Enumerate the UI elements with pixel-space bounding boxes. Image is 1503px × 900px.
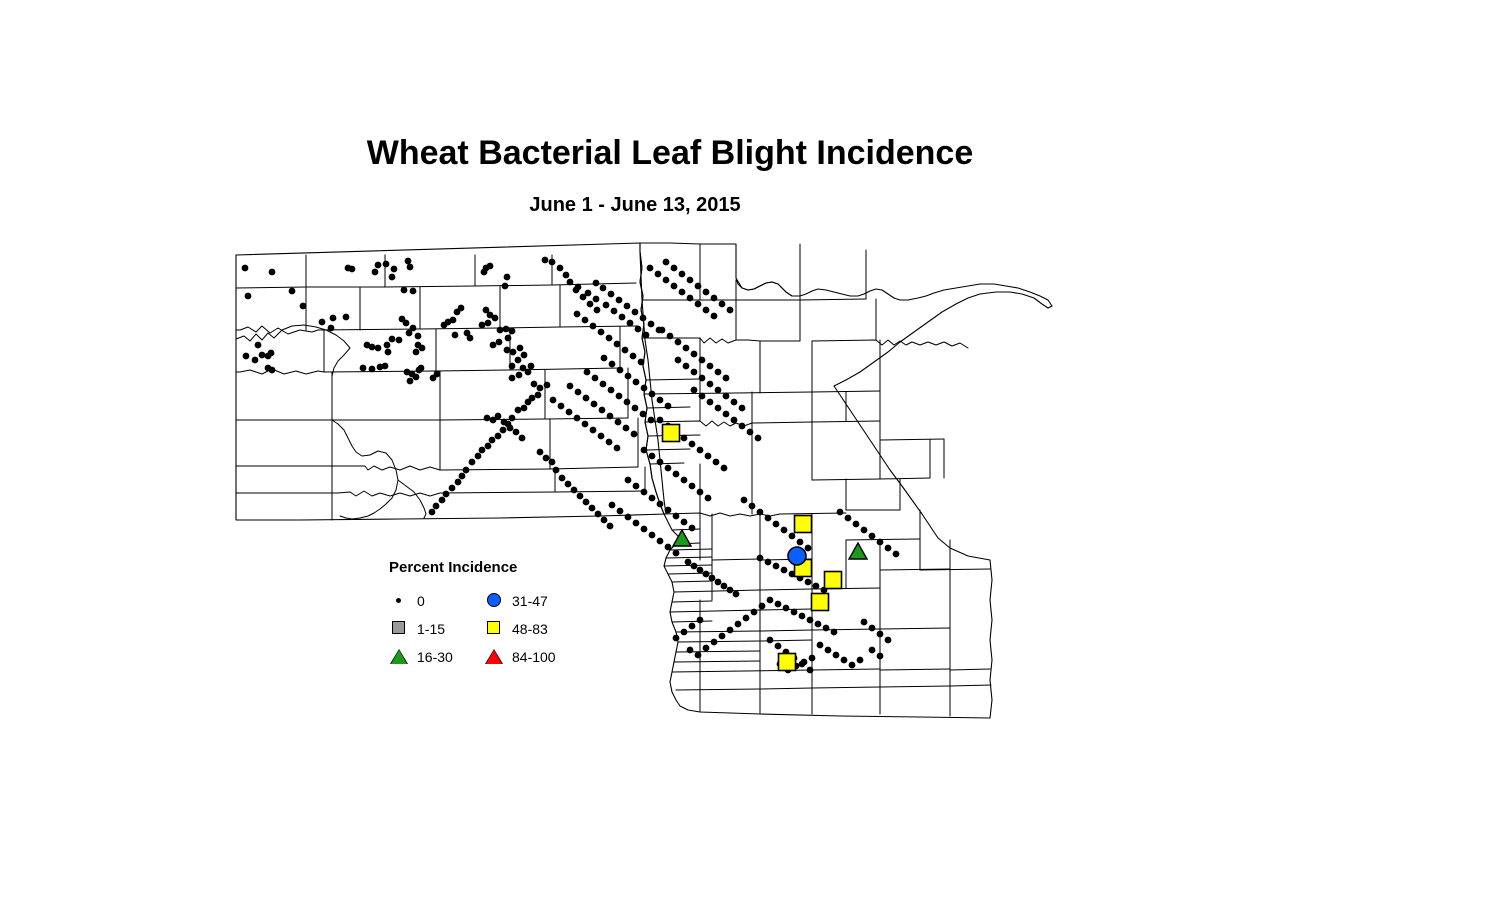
zero-incidence-dot [255,342,262,349]
zero-incidence-dot [691,369,698,376]
zero-incidence-dot [705,495,712,502]
zero-incidence-dot [497,327,504,334]
zero-incidence-dot [755,435,762,442]
zero-incidence-dot [709,575,716,582]
zero-incidence-dot [715,579,722,586]
zero-incidence-dot [617,508,624,515]
zero-incidence-dot [396,337,403,344]
zero-incidence-dot [823,625,830,632]
legend-symbol-red-triangle-icon [484,647,508,667]
zero-incidence-dot [657,397,664,404]
zero-incidence-dot [567,279,574,286]
zero-incidence-dot [615,419,622,426]
basemap-layer [236,243,1052,718]
zero-incidence-dot [601,355,608,362]
zero-incidence-dot [607,523,614,530]
zero-incidence-dot [372,269,379,276]
zero-incidence-dot [587,301,594,308]
zero-incidence-dot [663,277,670,284]
zero-incidence-dot [510,349,517,356]
zero-incidence-dot [853,521,860,528]
legend-symbol-blue-circle-icon [484,591,508,611]
zero-incidence-dot [582,421,589,428]
zero-incidence-dot [809,655,816,662]
zero-incidence-dot [791,609,798,616]
zero-incidence-dot [655,271,662,278]
zero-incidence-dot [415,342,422,349]
zero-incidence-dot [773,563,780,570]
zero-incidence-dot [406,330,413,337]
zero-incidence-dot [721,465,728,472]
zero-incidence-dot [607,413,614,420]
zero-incidence-dot [513,429,520,436]
zero-incidence-dot [515,407,522,414]
zero-incidence-dot [775,601,782,608]
legend-item-84-100[interactable]: 84-100 [484,647,556,667]
zero-incidence-dot [330,315,337,322]
zero-incidence-dot [699,393,706,400]
zero-incidence-dot [673,635,680,642]
zero-incidence-dot [489,437,496,444]
zero-incidence-dot [603,302,610,309]
zero-incidence-dot [557,265,564,272]
zero-incidence-dot [703,289,710,296]
zero-incidence-dot [608,387,615,394]
zero-incidence-dot [759,603,766,610]
zero-incidence-dot [383,261,390,268]
zero-incidence-dot [521,352,528,359]
zero-incidence-dot [269,367,276,374]
zero-incidence-dot [614,445,621,452]
zero-incidence-dot [558,403,565,410]
zero-incidence-dot [665,507,672,514]
zero-incidence-dot [773,521,780,528]
legend-symbol-yellow-square-icon [484,619,508,639]
zero-incidence-dot [703,571,710,578]
zero-incidence-dot [699,357,706,364]
zero-incidence-dot [845,515,852,522]
zero-incidence-dot [719,301,726,308]
zero-incidence-dot [715,405,722,412]
zero-incidence-dot [433,503,440,510]
legend-symbol-gray-square-icon [389,619,413,639]
zero-incidence-dot [413,349,420,356]
zero-incidence-dot [703,307,710,314]
zero-incidence-dot [691,351,698,358]
zero-incidence-dot [649,453,656,460]
zero-incidence-dot [841,657,848,664]
zero-incidence-dot [543,455,550,462]
zero-incidence-dot [616,297,623,304]
zero-incidence-dot [719,633,726,640]
map-figure: Wheat Bacterial Leaf Blight Incidence Ju… [0,0,1503,900]
zero-incidence-dot [757,509,764,516]
legend-item-31-47[interactable]: 31-47 [484,591,548,611]
zero-incidence-dot [648,417,655,424]
zero-incidence-dot [633,520,640,527]
map-canvas [0,0,1503,900]
zero-incidence-dot [849,662,856,669]
zero-incidence-dot [585,290,592,297]
zero-incidence-dot [691,563,698,570]
zero-incidence-dot [663,259,670,266]
zero-incidence-dot [590,323,597,330]
zero-incidence-dot [625,514,632,521]
marker-16-30 [849,543,867,559]
zero-incidence-dot [861,619,868,626]
zero-incidence-dot [410,288,417,295]
zero-incidence-dot [649,495,656,502]
zero-incidence-dot [711,313,718,320]
zero-incidence-dot [815,621,822,628]
zero-incidence-dot [711,639,718,646]
zero-incidence-dot [439,497,446,504]
zero-incidence-dot [697,447,704,454]
zero-incidence-dot [269,269,276,276]
zero-incidence-dot [627,320,634,327]
zero-incidence-dot [751,609,758,616]
zero-incidence-dot [609,502,616,509]
zero-incidence-dot [467,335,474,342]
zero-incidence-dot [429,509,436,516]
zero-incidence-dot [369,366,376,373]
zero-incidence-dot [671,265,678,272]
zero-incidence-dot [657,538,664,545]
marker-31-47 [788,547,806,565]
zero-incidence-dot [705,453,712,460]
zero-incidence-dot [781,527,788,534]
zero-incidence-dot [591,401,598,408]
zero-incidence-dot [648,321,655,328]
zero-incidence-dot [537,449,544,456]
zero-incidence-dot [671,283,678,290]
zero-incidence-dot [695,652,702,659]
zero-incidence-dot [697,617,704,624]
zero-incidence-dot [289,288,296,295]
zero-incidence-dot [401,287,408,294]
zero-incidence-dot [503,326,510,333]
zero-incidence-dot [711,295,718,302]
zero-incidence-dot [633,379,640,386]
zero-incidence-dot [319,319,326,326]
zero-incidence-dot [450,317,457,324]
zero-incidence-dot [825,647,832,654]
zero-incidence-dot [485,443,492,450]
zero-incidence-dot [869,647,876,654]
zero-incidence-dot [549,259,556,266]
zero-incidence-dot [595,511,602,518]
zero-incidence-dot [715,369,722,376]
zero-incidence-dot [805,579,812,586]
zero-incidence-dot [434,371,441,378]
zero-incidence-dot [528,363,535,370]
zero-incidence-dot [544,382,551,389]
zero-incidence-dot [723,375,730,382]
zero-incidence-dot [413,374,420,381]
zero-incidence-dot [641,447,648,454]
zero-incidence-dot [681,435,688,442]
zero-incidence-dot [389,336,396,343]
zero-incidence-dot [679,271,686,278]
zero-incidence-dot [559,475,566,482]
zero-incidence-dot [699,375,706,382]
zero-incidence-dot [635,326,642,333]
legend-title: Percent Incidence [389,559,517,576]
zero-incidence-dot [583,499,590,506]
zero-incidence-dot [640,315,647,322]
zero-incidence-dot [599,407,606,414]
zero-incidence-dot [757,555,764,562]
zero-incidence-dot [689,525,696,532]
zero-incidence-dot [577,493,584,500]
zero-incidence-dot [775,643,782,650]
zero-incidence-dot [582,317,589,324]
zero-incidence-dot [611,308,618,315]
zero-incidence-dot [833,652,840,659]
legend-symbol-small-dot-icon [389,591,413,611]
zero-incidence-dot [624,303,631,310]
zero-incidence-dot [723,393,730,400]
zero-incidence-dot [616,393,623,400]
zero-incidence-dot [567,383,574,390]
zero-incidence-dot [727,307,734,314]
legend-item-48-83[interactable]: 48-83 [484,619,548,639]
legend-label-16-30: 16-30 [417,649,453,665]
zero-incidence-dot [675,339,682,346]
zero-incidence-dot [300,303,307,310]
zero-incidence-dot [727,627,734,634]
zero-incidence-dot [723,411,730,418]
zero-incidence-dot [630,353,637,360]
zero-incidence-dot [492,315,499,322]
zero-incidence-dot [575,284,582,291]
zero-incidence-dot [502,283,509,290]
zero-incidence-dot [893,551,900,558]
zero-incidence-dot [632,309,639,316]
marker-48-83 [812,594,829,611]
legend-label-0: 0 [417,593,425,609]
zero-incidence-dot [641,385,648,392]
zero-incidence-dot [695,283,702,290]
zero-incidence-dot [877,653,884,660]
zero-incidence-dot [389,274,396,281]
marker-48-83 [825,572,842,589]
zero-incidence-dot [681,477,688,484]
zero-incidence-dot [601,517,608,524]
zero-incidence-dot [632,405,639,412]
zero-incidence-dot [509,328,516,335]
zero-incidence-dot [245,293,252,300]
zero-incidence-dot [869,625,876,632]
zero-incidence-dot [707,399,714,406]
northwest-angle [736,244,792,296]
zero-incidence-dot [484,415,491,422]
zero-incidence-dot [813,583,820,590]
zero-incidence-dot [659,327,666,334]
zero-incidence-dot [675,357,682,364]
zero-incidence-dot [504,347,511,354]
zero-incidence-dot [469,459,476,466]
zero-incidence-dot [624,399,631,406]
zero-incidence-dot [521,405,528,412]
zero-incidence-dot [633,483,640,490]
zero-incidence-dot [415,333,422,340]
zero-incidence-dot [592,375,599,382]
zero-incidence-dot [647,265,654,272]
zero-incidence-dot [707,381,714,388]
zero-incidence-dot [673,471,680,478]
zero-incidence-dot [550,397,557,404]
zero-incidence-dot [574,311,581,318]
zero-incidence-dot [657,501,664,508]
zero-incidence-dot [328,325,335,332]
zero-incidence-dot [407,264,414,271]
legend-symbol-green-triangle-icon [389,647,413,667]
zero-incidence-dot [385,349,392,356]
zero-incidence-dot [479,447,486,454]
zero-incidence-dot [509,375,516,382]
zero-incidence-dot [459,473,466,480]
zero-incidence-dot [495,413,502,420]
zero-incidence-dot [805,545,812,552]
zero-incidence-dot [598,329,605,336]
marker-48-83 [663,425,680,442]
zero-incidence-dot [455,479,462,486]
zero-incidence-dot [817,642,824,649]
zero-incidence-dot [517,345,524,352]
zero-incidence-dot [600,381,607,388]
marker-48-83 [795,516,812,533]
zero-incidence-dot [731,399,738,406]
zero-incidence-dot [505,335,512,342]
zero-incidence-dot [799,613,806,620]
zero-incidence-dot [831,629,838,636]
zero-incidence-dot [731,417,738,424]
missouri-river [332,420,398,519]
zero-incidence-dot [600,285,607,292]
zero-incidence-dot [405,258,412,265]
zero-incidence-dot [691,387,698,394]
zero-incidence-dot [443,491,450,498]
zero-incidence-dot [703,645,710,652]
zero-incidence-dot [542,257,549,264]
zero-incidence-dot [885,637,892,644]
zero-incidence-dot [747,429,754,436]
legend-item-1-15[interactable]: 1-15 [389,619,445,639]
zero-incidence-dot [707,363,714,370]
zero-incidence-dot [781,567,788,574]
zero-incidence-dot [685,559,692,566]
zero-incidence-dot [683,363,690,370]
zero-incidence-dot [496,339,503,346]
zero-incidence-dot [640,411,647,418]
zero-incidence-dot [657,459,664,466]
zero-incidence-dot [631,431,638,438]
zero-incidence-dot [861,527,868,534]
zero-incidence-dot [649,532,656,539]
legend-item-16-30[interactable]: 16-30 [389,647,453,667]
zero-incidence-dot [531,381,538,388]
zero-incidence-dot [681,629,688,636]
zero-incidence-dot [525,369,532,376]
legend-label-1-15: 1-15 [417,621,445,637]
legend-label-31-47: 31-47 [512,593,548,609]
zero-incidence-dot [665,403,672,410]
zero-incidence-dot [519,435,526,442]
zero-incidence-dot [807,617,814,624]
zero-incidence-dot [479,322,486,329]
zero-incidence-dot [689,441,696,448]
zero-incidence-dot [673,513,680,520]
zero-incidence-dot [364,342,371,349]
zero-incidence-dot [598,433,605,440]
zero-incidence-dot [665,465,672,472]
zero-incidence-dot [475,453,482,460]
zero-incidence-dot [566,409,573,416]
zero-incidence-dot [695,301,702,308]
zero-incidence-dot [657,417,664,424]
zero-incidence-dot [463,467,470,474]
legend-item-0[interactable]: 0 [389,591,425,611]
zero-incidence-dot [403,320,410,327]
zero-incidence-dot [721,583,728,590]
zero-incidence-dot [733,591,740,598]
zero-incidence-dot [593,280,600,287]
missouri-river-south [398,480,426,518]
zero-incidence-dot [384,342,391,349]
zero-incidence-dot [382,363,389,370]
legend-label-84-100: 84-100 [512,649,556,665]
zero-incidence-dot [857,657,864,664]
zero-incidence-dot [638,359,645,366]
zero-incidence-dot [549,459,556,466]
zero-incidence-dot [375,262,382,269]
zero-incidence-dot [641,489,648,496]
zero-incidence-dot [767,637,774,644]
zero-incidence-dot [500,427,507,434]
zero-incidence-dot [537,385,544,392]
zero-incidence-dot [575,389,582,396]
zero-incidence-dot [713,459,720,466]
zero-incidence-dot [343,314,350,321]
zero-incidence-dot [509,415,516,422]
zero-incidence-dot [485,320,492,327]
zero-incidence-dot [641,526,648,533]
zero-incidence-dot [622,347,629,354]
zero-incidence-dot [418,365,425,372]
zero-incidence-dot [501,419,508,426]
zero-incidence-dot [507,425,514,432]
zero-incidence-dot [687,647,694,654]
zero-incidence-dot [869,533,876,540]
zero-incidence-dot [735,621,742,628]
zero-incidence-dot [765,515,772,522]
zero-incidence-dot [687,277,694,284]
zero-incidence-dot [767,597,774,604]
zero-incidence-dot [594,307,601,314]
zero-incidence-dot [609,361,616,368]
zero-incidence-dot [687,295,694,302]
zero-incidence-dot [623,425,630,432]
zero-incidence-dot [589,505,596,512]
zero-incidence-dot [452,332,459,339]
zero-incidence-dot [525,399,532,406]
zero-incidence-dot [739,405,746,412]
zero-incidence-dot [243,353,250,360]
zero-incidence-dot [565,481,572,488]
zero-incidence-dot [614,341,621,348]
zero-incidence-dot [727,587,734,594]
